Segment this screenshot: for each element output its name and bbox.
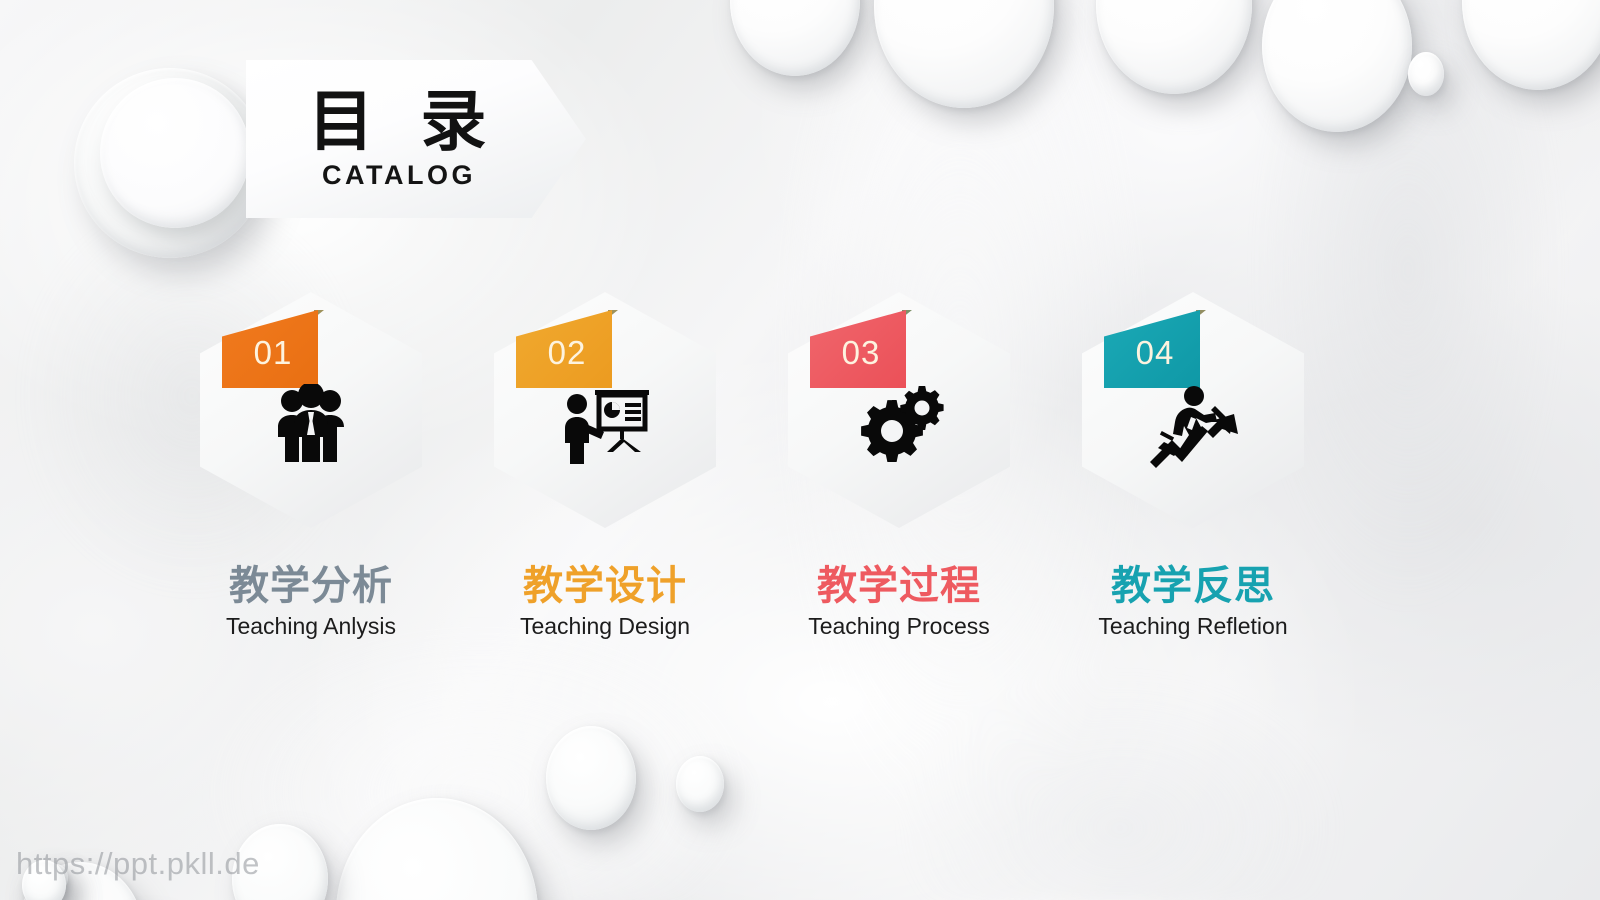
item-title-cn-4: 教学反思 bbox=[1111, 564, 1275, 609]
watermark-url: https://ppt.pkll.de bbox=[16, 846, 260, 882]
decorative-circle-bottom-6 bbox=[546, 726, 636, 830]
item-title-en-3: Teaching Process bbox=[808, 613, 990, 640]
catalog-slide: 目 录 CATALOG 01 bbox=[0, 0, 1600, 900]
hexagon-badge-4[interactable]: 04 bbox=[1082, 292, 1304, 528]
presenter-whiteboard-icon bbox=[494, 384, 716, 464]
item-title-cn-2: 教学设计 bbox=[523, 564, 687, 609]
hexagon-badge-2[interactable]: 02 bbox=[494, 292, 716, 528]
catalog-item-4[interactable]: 04 教学反思 Teaching Refletion bbox=[1082, 292, 1304, 640]
item-number-4: 04 bbox=[1136, 334, 1175, 372]
item-number-2: 02 bbox=[548, 334, 587, 372]
hexagon-badge-3[interactable]: 03 bbox=[788, 292, 1010, 528]
item-number-1: 01 bbox=[254, 334, 293, 372]
item-number-3: 03 bbox=[842, 334, 881, 372]
hexagon-badge-1[interactable]: 01 bbox=[200, 292, 422, 528]
catalog-item-list: 01 教学分析 Teaching Anlysis bbox=[200, 292, 1420, 640]
title-banner: 目 录 CATALOG bbox=[246, 60, 586, 218]
group-people-icon bbox=[200, 384, 422, 462]
catalog-item-1[interactable]: 01 教学分析 Teaching Anlysis bbox=[200, 292, 422, 640]
businessman-growth-arrow-icon bbox=[1082, 384, 1304, 468]
gears-icon bbox=[788, 384, 1010, 464]
item-title-cn-3: 教学过程 bbox=[817, 564, 981, 609]
item-title-cn-1: 教学分析 bbox=[229, 564, 393, 609]
decorative-circle-bottom-7 bbox=[676, 756, 724, 812]
catalog-item-2[interactable]: 02 bbox=[494, 292, 716, 640]
catalog-item-3[interactable]: 03 教学过程 Teaching Process bbox=[788, 292, 1010, 640]
item-title-en-4: Teaching Refletion bbox=[1098, 613, 1287, 640]
page-title-en: CATALOG bbox=[322, 160, 476, 191]
item-title-en-2: Teaching Design bbox=[520, 613, 690, 640]
item-title-en-1: Teaching Anlysis bbox=[226, 613, 396, 640]
page-title-cn: 目 录 bbox=[308, 88, 500, 154]
decorative-ring-inner bbox=[100, 78, 250, 228]
decorative-circle-top-5 bbox=[1408, 52, 1444, 96]
